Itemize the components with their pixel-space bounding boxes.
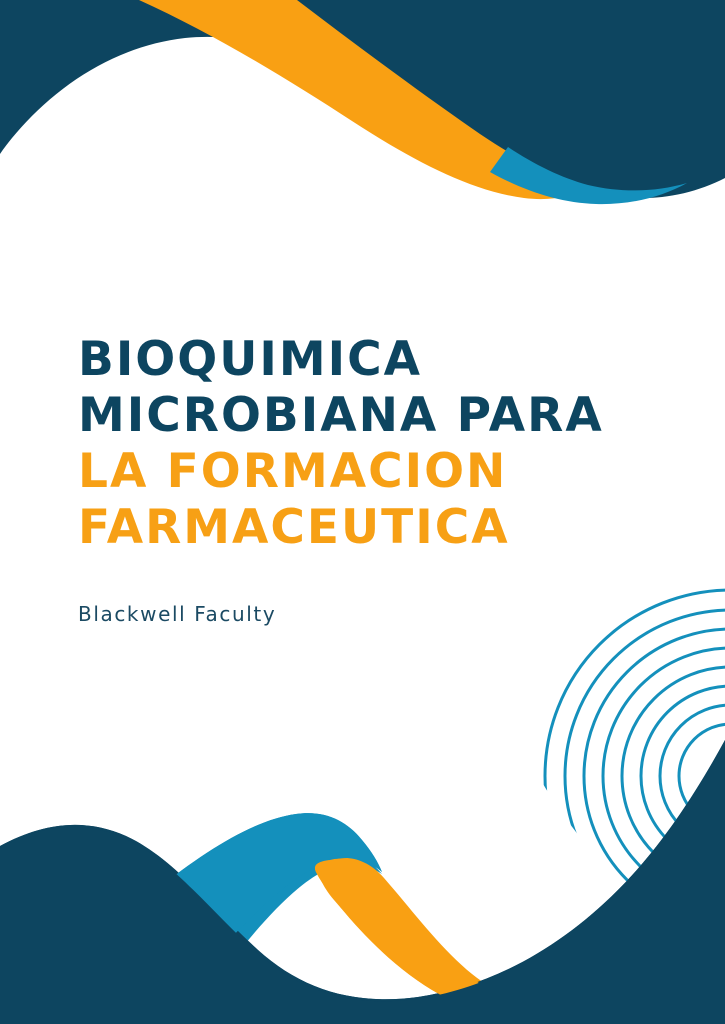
- title-line-2: MICROBIANA PARA: [78, 388, 678, 444]
- cover-text-block: BIOQUIMICA MICROBIANA PARA LA FORMACION …: [78, 332, 678, 626]
- title-line-1: BIOQUIMICA: [78, 332, 678, 388]
- book-cover-page: BIOQUIMICA MICROBIANA PARA LA FORMACION …: [0, 0, 725, 1024]
- title-line-3: LA FORMACION: [78, 444, 678, 500]
- author-name: Blackwell Faculty: [78, 556, 678, 626]
- title-line-4: FARMACEUTICA: [78, 500, 678, 556]
